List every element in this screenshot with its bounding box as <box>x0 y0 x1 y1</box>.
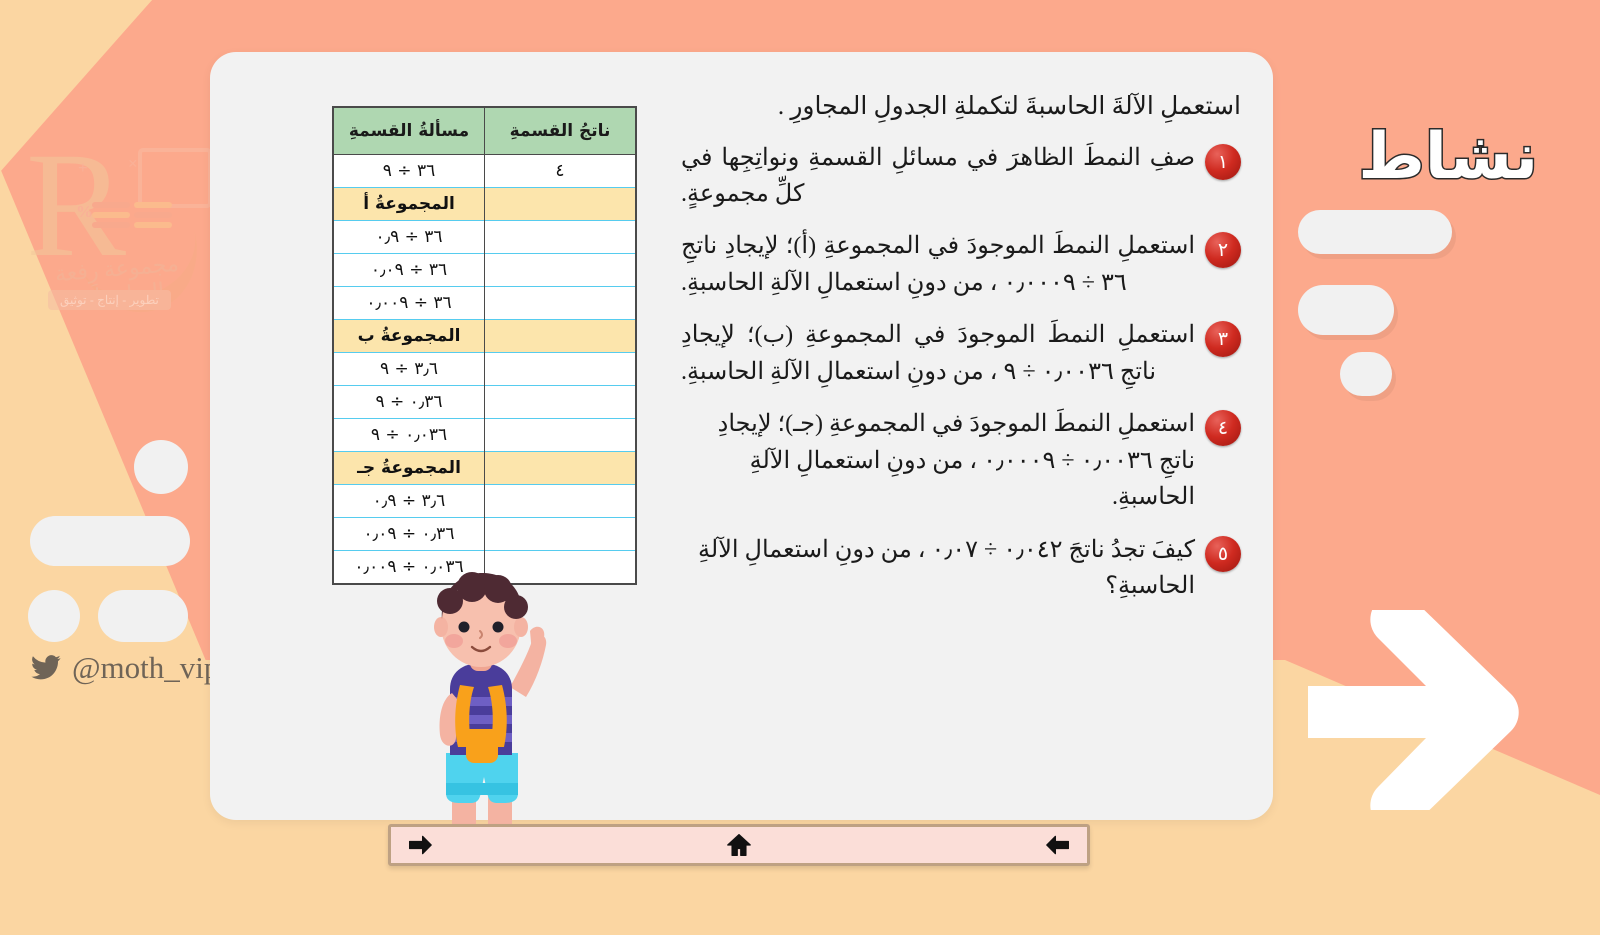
division-patterns-table: ناتجُ القسمةِ مسألةُ القسمةِ ٤٣٦ ÷ ٩المج… <box>332 106 637 585</box>
table-cell-result[interactable] <box>485 254 637 287</box>
question-number-badge: ٥ <box>1205 536 1241 572</box>
table-cell-group-label: المجموعةُ أ <box>333 188 485 221</box>
brand-logo-watermark: R + × % مجموعة رِفعة الرياضيات تطوير - إ… <box>18 130 218 315</box>
table-cell-problem: ٣٦ ÷ ٠٫٠٩ <box>333 254 485 287</box>
table-row: ٠٫٣٦ ÷ ٩ <box>333 386 636 419</box>
question-text: صفِ النمطَ الظاهرَ في مسائلِ القسمةِ ونو… <box>681 140 1195 213</box>
table-cell-result[interactable] <box>485 452 637 485</box>
question-text: استعملِ النمطَ الموجودَ في المجموعةِ (أ)… <box>681 228 1195 301</box>
decorative-circle-2 <box>28 590 80 642</box>
table-row: ٠٫٠٣٦ ÷ ٩ <box>333 419 636 452</box>
twitter-handle-text: @moth_vip <box>72 650 219 686</box>
table-header-result: ناتجُ القسمةِ <box>485 107 637 155</box>
next-slide-arrow-button[interactable] <box>1308 610 1538 810</box>
question-item: ٤استعملِ النمطَ الموجودَ في المجموعةِ (ج… <box>681 406 1241 515</box>
decorative-side-pill-3 <box>1340 352 1392 396</box>
twitter-credit: @moth_vip <box>26 650 219 686</box>
table-row: ٣٫٦ ÷ ٩ <box>333 353 636 386</box>
table-cell-problem: ٣٫٦ ÷ ٠٫٩ <box>333 485 485 518</box>
questions-list: ١صفِ النمطَ الظاهرَ في مسائلِ القسمةِ ون… <box>681 140 1241 605</box>
table-cell-result[interactable] <box>485 386 637 419</box>
table-group-row: المجموعةُ أ <box>333 188 636 221</box>
table-cell-result[interactable] <box>485 353 637 386</box>
table-row: ٣٫٦ ÷ ٠٫٩ <box>333 485 636 518</box>
table-cell-result[interactable]: ٤ <box>485 155 637 188</box>
logo-times-icon: × <box>128 154 138 174</box>
table-cell-problem: ٠٫٣٦ ÷ ٩ <box>333 386 485 419</box>
table-row: ٤٣٦ ÷ ٩ <box>333 155 636 188</box>
content-card: ناتجُ القسمةِ مسألةُ القسمةِ ٤٣٦ ÷ ٩المج… <box>210 52 1273 820</box>
nav-home-icon[interactable] <box>724 831 754 859</box>
question-number-badge: ٣ <box>1205 321 1241 357</box>
twitter-bird-icon <box>26 652 66 684</box>
question-text: استعملِ النمطَ الموجودَ في المجموعةِ (ب)… <box>681 317 1195 390</box>
table-cell-result[interactable] <box>485 518 637 551</box>
table-cell-group-label: المجموعةُ ب <box>333 320 485 353</box>
table-cell-problem: ٠٫٣٦ ÷ ٠٫٠٩ <box>333 518 485 551</box>
table-cell-result[interactable] <box>485 485 637 518</box>
question-item: ٣استعملِ النمطَ الموجودَ في المجموعةِ (ب… <box>681 317 1241 390</box>
decorative-side-pill-1 <box>1298 210 1452 254</box>
table-group-row: المجموعةُ جـ <box>333 452 636 485</box>
nav-forward-arrow-icon[interactable] <box>405 831 435 859</box>
table-row: ٣٦ ÷ ٠٫٠٩ <box>333 254 636 287</box>
table-cell-result[interactable] <box>485 287 637 320</box>
decorative-circle-1 <box>134 440 188 494</box>
table-row: ٣٦ ÷ ٠٫٠٠٩ <box>333 287 636 320</box>
logo-book-icon <box>92 198 172 240</box>
table-group-row: المجموعةُ ب <box>333 320 636 353</box>
nav-back-arrow-icon[interactable] <box>1043 831 1073 859</box>
table-row: ٣٦ ÷ ٠٫٩ <box>333 221 636 254</box>
table-cell-problem: ٠٫٠٣٦ ÷ ٩ <box>333 419 485 452</box>
decorative-pill-2 <box>98 590 188 642</box>
logo-tagline: تطوير - إنتاج - توثيق <box>48 290 171 310</box>
slide-navigation-bar[interactable] <box>388 824 1090 866</box>
instruction-text: استعملِ الآلةَ الحاسبةَ لتكملةِ الجدولِ … <box>681 88 1241 126</box>
table-cell-problem: ٣٦ ÷ ٠٫٠٠٩ <box>333 287 485 320</box>
logo-percent-icon: % <box>76 202 93 222</box>
table-header-row: ناتجُ القسمةِ مسألةُ القسمةِ <box>333 107 636 155</box>
table-header-problem: مسألةُ القسمةِ <box>333 107 485 155</box>
activity-title: نشاط <box>1358 120 1538 194</box>
table-cell-result[interactable] <box>485 188 637 221</box>
table-cell-result[interactable] <box>485 221 637 254</box>
decorative-pill-1 <box>30 516 190 566</box>
table-cell-result[interactable] <box>485 419 637 452</box>
question-item: ٥كيفَ تجدُ ناتجَ ٠٫٠٤٢ ÷ ٠٫٠٧ ، من دونِ … <box>681 532 1241 605</box>
question-number-badge: ١ <box>1205 144 1241 180</box>
table-cell-problem: ٣٫٦ ÷ ٩ <box>333 353 485 386</box>
question-text: استعملِ النمطَ الموجودَ في المجموعةِ (جـ… <box>681 406 1195 515</box>
question-number-badge: ٤ <box>1205 410 1241 446</box>
question-text: كيفَ تجدُ ناتجَ ٠٫٠٤٢ ÷ ٠٫٠٧ ، من دونِ ا… <box>681 532 1195 605</box>
table-body: ٤٣٦ ÷ ٩المجموعةُ أ٣٦ ÷ ٠٫٩٣٦ ÷ ٠٫٠٩٣٦ ÷ … <box>333 155 636 585</box>
question-item: ٢استعملِ النمطَ الموجودَ في المجموعةِ (أ… <box>681 228 1241 301</box>
decorative-side-pill-2 <box>1298 285 1394 335</box>
table-cell-group-label: المجموعةُ جـ <box>333 452 485 485</box>
question-item: ١صفِ النمطَ الظاهرَ في مسائلِ القسمةِ ون… <box>681 140 1241 213</box>
question-number-badge: ٢ <box>1205 232 1241 268</box>
table-cell-problem: ٣٦ ÷ ٩ <box>333 155 485 188</box>
table-cell-result[interactable] <box>485 320 637 353</box>
table-cell-problem: ٣٦ ÷ ٠٫٩ <box>333 221 485 254</box>
logo-plus-icon: + <box>78 158 88 178</box>
questions-block: استعملِ الآلةَ الحاسبةَ لتكملةِ الجدولِ … <box>681 88 1241 621</box>
table-row: ٠٫٣٦ ÷ ٠٫٠٩ <box>333 518 636 551</box>
